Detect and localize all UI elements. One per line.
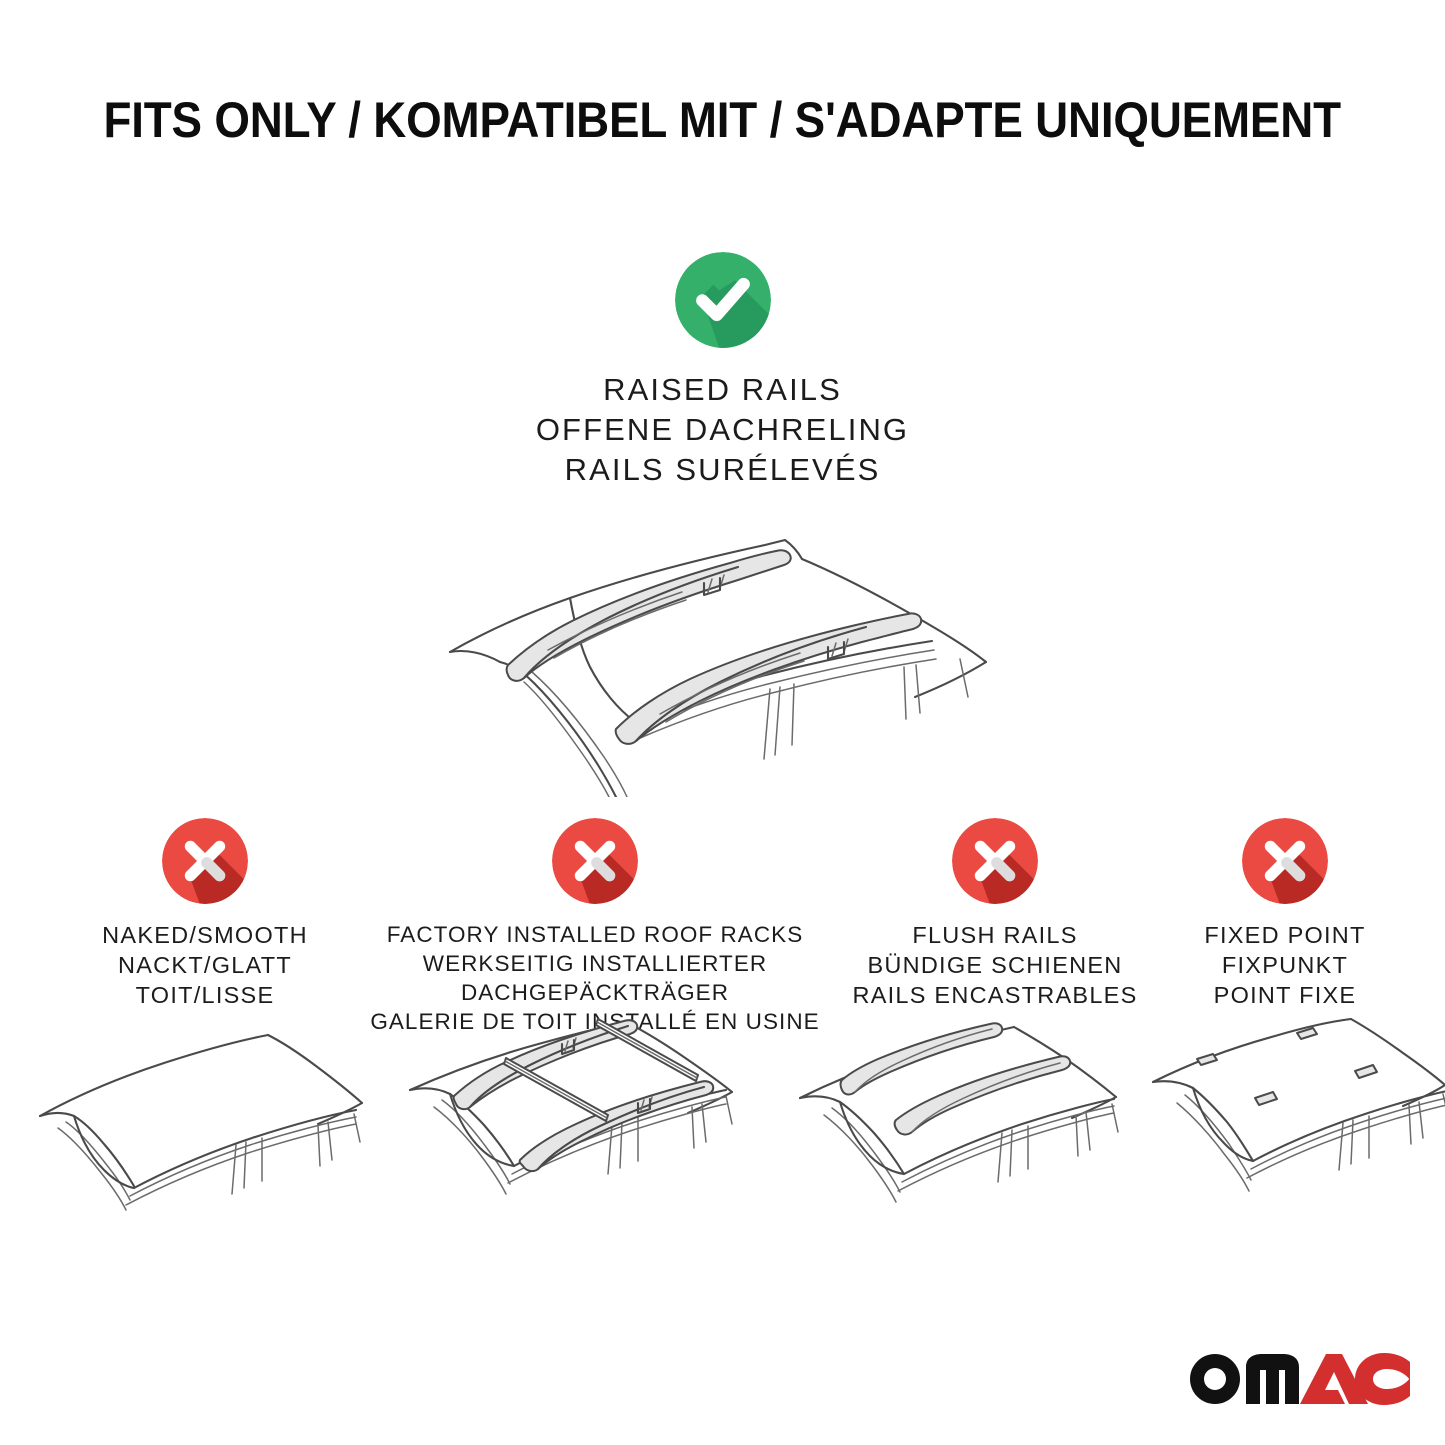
approved-label-en: RAISED RAILS [0,370,1445,410]
page-title-text: FITS ONLY / KOMPATIBEL MIT / S'ADAPTE UN… [104,92,1341,148]
car-roof-fixed-point-illustration [1145,1018,1445,1253]
label-line-en: FLUSH RAILS [820,920,1170,950]
omac-logo [1188,1345,1410,1407]
fixed-point-marker [1197,1028,1377,1105]
not-compatible-labels: FIXED POINT FIXPUNKT POINT FIXE [1165,920,1405,1010]
not-compatible-item-naked-smooth: NAKED/SMOOTH NACKT/GLATT TOIT/LISSE [35,818,375,1010]
page-title: FITS ONLY / KOMPATIBEL MIT / S'ADAPTE UN… [0,92,1445,148]
label-line-de: BÜNDIGE SCHIENEN [820,950,1170,980]
car-roof-factory-roof-racks-illustration [400,1008,775,1243]
cross-circle-icon [952,818,1038,904]
label-line-en: NAKED/SMOOTH [35,920,375,950]
not-compatible-item-flush-rails: FLUSH RAILS BÜNDIGE SCHIENEN RAILS ENCAS… [820,818,1170,1010]
label-line-de-2: DACHGEPÄCKTRÄGER [370,978,820,1007]
label-line-de: NACKT/GLATT [35,950,375,980]
not-compatible-labels: FLUSH RAILS BÜNDIGE SCHIENEN RAILS ENCAS… [820,920,1170,1010]
label-line-en: FIXED POINT [1165,920,1405,950]
approved-label-de: OFFENE DACHRELING [0,410,1445,450]
label-line-de-1: WERKSEITIG INSTALLIERTER [370,949,820,978]
label-line-fr: TOIT/LISSE [35,980,375,1010]
label-line-de: FIXPUNKT [1165,950,1405,980]
not-compatible-item-factory-roof-racks: FACTORY INSTALLED ROOF RACKS WERKSEITIG … [370,818,820,1036]
label-line-fr: RAILS ENCASTRABLES [820,980,1170,1010]
approved-label-fr: RAILS SURÉLEVÉS [0,450,1445,490]
approved-labels: RAISED RAILS OFFENE DACHRELING RAILS SUR… [0,370,1445,490]
check-circle-icon [675,252,771,348]
not-compatible-labels: NAKED/SMOOTH NACKT/GLATT TOIT/LISSE [35,920,375,1010]
cross-circle-icon [552,818,638,904]
cross-circle-icon [162,818,248,904]
label-line-en: FACTORY INSTALLED ROOF RACKS [370,920,820,949]
car-roof-raised-rails-illustration [420,497,1020,797]
infographic-root: FITS ONLY / KOMPATIBEL MIT / S'ADAPTE UN… [0,0,1445,1445]
car-roof-naked-smooth-illustration [18,1018,388,1253]
car-roof-flush-rails-illustration [780,1018,1155,1253]
approved-section: RAISED RAILS OFFENE DACHRELING RAILS SUR… [0,252,1445,490]
not-compatible-item-fixed-point: FIXED POINT FIXPUNKT POINT FIXE [1165,818,1405,1010]
cross-circle-icon [1242,818,1328,904]
label-line-fr: POINT FIXE [1165,980,1405,1010]
